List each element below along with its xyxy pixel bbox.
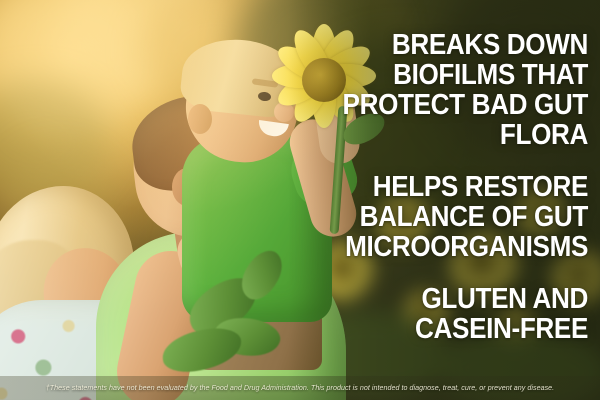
claim-line: HELPS RESTORE bbox=[291, 172, 588, 202]
claim-helps-restore-balance: HELPS RESTORE BALANCE OF GUT MICROORGANI… bbox=[258, 172, 588, 262]
claim-gluten-and-casein-free: GLUTEN AND CASEIN-FREE bbox=[258, 284, 588, 344]
claim-line: BALANCE OF GUT bbox=[291, 202, 588, 232]
claim-line: CASEIN-FREE bbox=[291, 314, 588, 344]
claim-line: BREAKS DOWN bbox=[291, 30, 588, 60]
benefit-claims: BREAKS DOWN BIOFILMS THAT PROTECT BAD GU… bbox=[258, 30, 588, 344]
fda-disclaimer: †These statements have not been evaluate… bbox=[0, 376, 600, 400]
claim-line: MICROORGANISMS bbox=[291, 232, 588, 262]
claim-line: FLORA bbox=[291, 120, 588, 150]
fda-disclaimer-text: †These statements have not been evaluate… bbox=[46, 384, 554, 393]
claim-breaks-down-biofilms: BREAKS DOWN BIOFILMS THAT PROTECT BAD GU… bbox=[258, 30, 588, 150]
claim-line: GLUTEN AND bbox=[291, 284, 588, 314]
promo-banner: BREAKS DOWN BIOFILMS THAT PROTECT BAD GU… bbox=[0, 0, 600, 400]
claim-line: PROTECT BAD GUT bbox=[291, 90, 588, 120]
claim-line: BIOFILMS THAT bbox=[291, 60, 588, 90]
boy-ear bbox=[188, 104, 212, 134]
